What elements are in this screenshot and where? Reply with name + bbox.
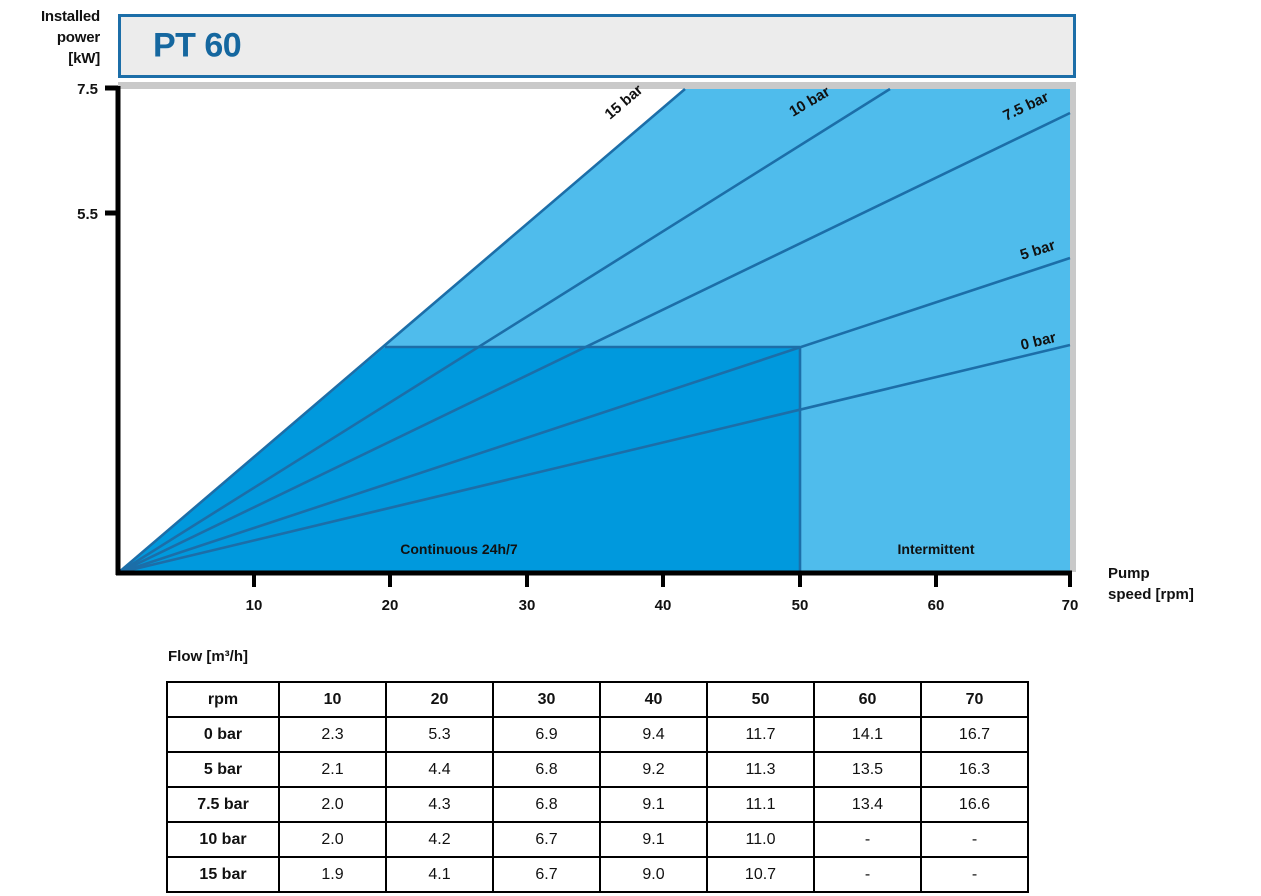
x-tick-labels: 10 20 30 40 50 60 70 — [246, 597, 1079, 614]
cell-0bar-30: 6.9 — [493, 717, 600, 752]
cell-15bar-50: 10.7 — [707, 857, 814, 892]
cell-0bar-40: 9.4 — [600, 717, 707, 752]
cell-75bar-40: 9.1 — [600, 787, 707, 822]
x-tick-label-30: 30 — [519, 597, 536, 614]
cell-0bar-50: 11.7 — [707, 717, 814, 752]
cell-0bar-70: 16.7 — [921, 717, 1028, 752]
cell-10bar-60: - — [814, 822, 921, 857]
region-label-intermittent: Intermittent — [898, 541, 975, 557]
table-row: 7.5 bar 2.0 4.3 6.8 9.1 11.1 13.4 16.6 — [167, 787, 1028, 822]
cell-5bar-10: 2.1 — [279, 752, 386, 787]
table-row-label-7-5-bar: 7.5 bar — [167, 787, 279, 822]
table-row: 10 bar 2.0 4.2 6.7 9.1 11.0 - - — [167, 822, 1028, 857]
table-row: 15 bar 1.9 4.1 6.7 9.0 10.7 - - — [167, 857, 1028, 892]
cell-75bar-60: 13.4 — [814, 787, 921, 822]
x-tick-label-70: 70 — [1062, 597, 1079, 614]
right-shadow-band — [1070, 82, 1076, 572]
table-row-label-0-bar: 0 bar — [167, 717, 279, 752]
cell-75bar-70: 16.6 — [921, 787, 1028, 822]
cell-15bar-10: 1.9 — [279, 857, 386, 892]
cell-10bar-30: 6.7 — [493, 822, 600, 857]
cell-5bar-30: 6.8 — [493, 752, 600, 787]
table-col-header-20: 20 — [386, 682, 493, 717]
table-col-header-50: 50 — [707, 682, 814, 717]
table-row: 5 bar 2.1 4.4 6.8 9.2 11.3 13.5 16.3 — [167, 752, 1028, 787]
table-row-label-5-bar: 5 bar — [167, 752, 279, 787]
cell-15bar-20: 4.1 — [386, 857, 493, 892]
cell-75bar-20: 4.3 — [386, 787, 493, 822]
cell-15bar-30: 6.7 — [493, 857, 600, 892]
table-col-header-10: 10 — [279, 682, 386, 717]
table-corner-header: rpm — [167, 682, 279, 717]
x-tick-label-60: 60 — [928, 597, 945, 614]
cell-0bar-10: 2.3 — [279, 717, 386, 752]
cell-5bar-50: 11.3 — [707, 752, 814, 787]
x-axis-title: Pump speed [rpm] — [1108, 563, 1258, 605]
table-col-header-30: 30 — [493, 682, 600, 717]
y-tick-label-7-5: 7.5 — [77, 81, 98, 98]
table-row: 0 bar 2.3 5.3 6.9 9.4 11.7 14.1 16.7 — [167, 717, 1028, 752]
cell-15bar-60: - — [814, 857, 921, 892]
cell-5bar-40: 9.2 — [600, 752, 707, 787]
y-tick-label-5-5: 5.5 — [77, 206, 98, 223]
cell-10bar-50: 11.0 — [707, 822, 814, 857]
cell-10bar-20: 4.2 — [386, 822, 493, 857]
cell-5bar-20: 4.4 — [386, 752, 493, 787]
cell-15bar-70: - — [921, 857, 1028, 892]
region-label-continuous: Continuous 24h/7 — [400, 541, 518, 557]
table-row-label-10-bar: 10 bar — [167, 822, 279, 857]
table-header-row: rpm 10 20 30 40 50 60 70 — [167, 682, 1028, 717]
cell-0bar-20: 5.3 — [386, 717, 493, 752]
x-axis-title-line-1: Pump — [1108, 563, 1258, 584]
cell-75bar-50: 11.1 — [707, 787, 814, 822]
cell-5bar-60: 13.5 — [814, 752, 921, 787]
cell-10bar-70: - — [921, 822, 1028, 857]
cell-0bar-60: 14.1 — [814, 717, 921, 752]
x-tick-label-50: 50 — [792, 597, 809, 614]
table-col-header-60: 60 — [814, 682, 921, 717]
cell-15bar-40: 9.0 — [600, 857, 707, 892]
x-tick-label-20: 20 — [382, 597, 399, 614]
cell-10bar-40: 9.1 — [600, 822, 707, 857]
flow-table: rpm 10 20 30 40 50 60 70 0 bar 2.3 5.3 6… — [166, 681, 1029, 893]
chart-svg: 15 bar 10 bar 7.5 bar 5 bar 0 bar Contin… — [0, 0, 1261, 640]
power-speed-chart: 15 bar 10 bar 7.5 bar 5 bar 0 bar Contin… — [0, 0, 1261, 640]
x-tick-label-40: 40 — [655, 597, 672, 614]
x-axis-title-line-2: speed [rpm] — [1108, 584, 1258, 605]
cell-10bar-10: 2.0 — [279, 822, 386, 857]
table-row-label-15-bar: 15 bar — [167, 857, 279, 892]
table-col-header-40: 40 — [600, 682, 707, 717]
cell-75bar-30: 6.8 — [493, 787, 600, 822]
table-col-header-70: 70 — [921, 682, 1028, 717]
cell-5bar-70: 16.3 — [921, 752, 1028, 787]
cell-75bar-10: 2.0 — [279, 787, 386, 822]
header-shadow-band — [118, 82, 1076, 89]
flow-table-title: Flow [m³/h] — [168, 648, 248, 665]
x-tick-label-10: 10 — [246, 597, 263, 614]
